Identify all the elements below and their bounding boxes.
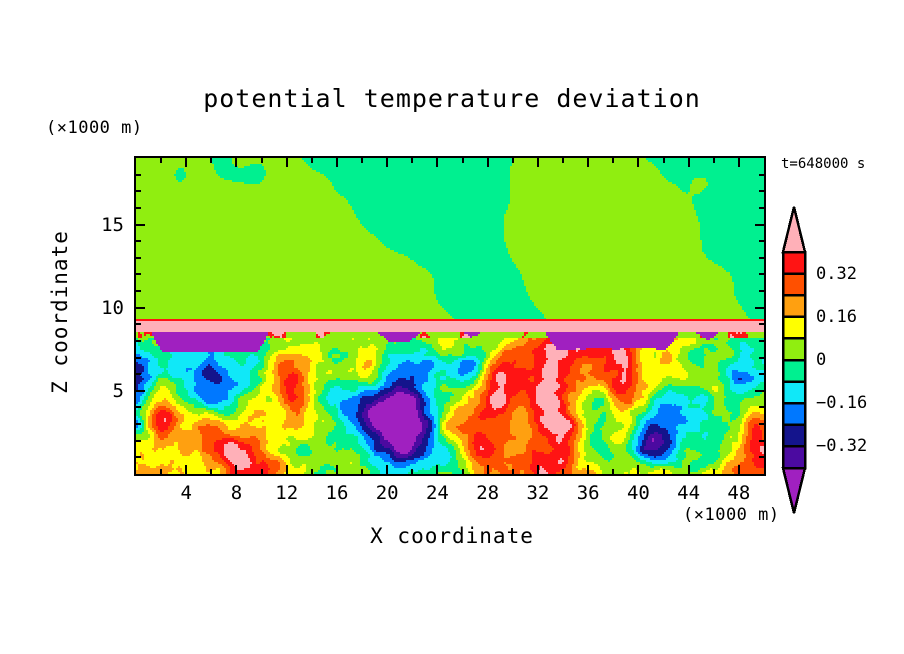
x-tick: [235, 156, 237, 167]
y-axis-units-label: (×1000 m): [46, 118, 143, 138]
x-tick: [261, 469, 263, 476]
x-tick: [336, 465, 338, 476]
x-tick: [612, 469, 614, 476]
x-tick: [562, 469, 564, 476]
x-tick-label: 16: [326, 482, 349, 504]
x-tick: [512, 156, 514, 163]
y-tick: [134, 257, 141, 259]
x-tick: [537, 465, 539, 476]
x-tick-label: 40: [627, 482, 650, 504]
y-tick: [134, 440, 141, 442]
y-tick: [759, 257, 766, 259]
y-tick: [755, 390, 766, 392]
y-tick: [134, 390, 145, 392]
x-tick: [361, 469, 363, 476]
x-tick: [286, 465, 288, 476]
x-tick: [361, 156, 363, 163]
x-axis-units-label: (×1000 m): [683, 505, 780, 525]
y-tick: [134, 190, 141, 192]
x-tick: [336, 156, 338, 167]
y-tick: [134, 323, 141, 325]
x-tick: [411, 469, 413, 476]
colorbar-tick-label: 0.16: [807, 307, 857, 327]
contour-field: [136, 158, 764, 474]
x-tick: [637, 156, 639, 167]
x-tick: [587, 156, 589, 167]
x-tick: [185, 465, 187, 476]
page-title: potential temperature deviation: [0, 84, 904, 113]
x-tick: [210, 469, 212, 476]
x-tick: [462, 469, 464, 476]
colorbar: 0.320.160−0.16−0.32: [781, 205, 807, 515]
x-tick: [487, 156, 489, 167]
x-tick: [436, 465, 438, 476]
y-tick-label: 5: [84, 380, 124, 402]
x-tick: [688, 465, 690, 476]
x-tick: [487, 465, 489, 476]
x-tick: [663, 469, 665, 476]
x-tick: [235, 465, 237, 476]
y-tick: [134, 340, 141, 342]
colorbar-tick-label: 0.32: [807, 264, 857, 284]
x-tick: [311, 156, 313, 163]
y-tick: [134, 423, 141, 425]
x-tick-label: 4: [181, 482, 192, 504]
y-tick: [759, 456, 766, 458]
x-tick: [512, 469, 514, 476]
y-tick: [134, 456, 141, 458]
contour-plot-area: 4812162024283236404448 51015: [134, 156, 766, 476]
x-tick: [562, 156, 564, 163]
y-tick-label: 15: [84, 214, 124, 236]
x-tick: [160, 469, 162, 476]
colorbar-tick-label: 0: [807, 350, 826, 370]
x-tick: [462, 156, 464, 163]
x-tick: [185, 156, 187, 167]
x-tick-label: 8: [231, 482, 242, 504]
x-tick-label: 44: [677, 482, 700, 504]
x-tick: [436, 156, 438, 167]
x-tick: [411, 156, 413, 163]
x-tick: [286, 156, 288, 167]
x-tick: [587, 465, 589, 476]
y-tick: [759, 207, 766, 209]
colorbar-tick-label: −0.16: [807, 393, 867, 413]
y-tick: [755, 307, 766, 309]
x-tick-label: 36: [577, 482, 600, 504]
x-tick: [210, 156, 212, 163]
x-tick: [160, 156, 162, 163]
y-tick: [134, 307, 145, 309]
y-tick: [759, 290, 766, 292]
x-axis-title: X coordinate: [0, 524, 904, 548]
x-tick: [386, 156, 388, 167]
x-tick: [663, 156, 665, 163]
y-tick: [134, 240, 141, 242]
colorbar-tick-label: −0.32: [807, 436, 867, 456]
x-tick: [386, 465, 388, 476]
x-tick-label: 20: [376, 482, 399, 504]
y-tick: [759, 340, 766, 342]
y-tick: [759, 406, 766, 408]
y-tick: [759, 190, 766, 192]
y-tick: [759, 273, 766, 275]
x-tick: [713, 156, 715, 163]
y-tick: [134, 406, 141, 408]
y-tick-label: 10: [84, 297, 124, 319]
y-tick: [755, 224, 766, 226]
x-tick: [261, 156, 263, 163]
y-tick: [134, 224, 145, 226]
x-tick-label: 24: [426, 482, 449, 504]
x-tick: [738, 156, 740, 167]
y-tick: [134, 273, 141, 275]
x-tick: [688, 156, 690, 167]
y-tick: [134, 373, 141, 375]
x-tick: [637, 465, 639, 476]
y-tick: [759, 440, 766, 442]
x-tick-label: 32: [526, 482, 549, 504]
y-tick: [134, 174, 141, 176]
x-tick-label: 48: [727, 482, 750, 504]
y-tick: [134, 207, 141, 209]
y-tick: [759, 323, 766, 325]
y-tick: [134, 290, 141, 292]
y-tick: [759, 240, 766, 242]
x-tick: [738, 465, 740, 476]
y-tick: [759, 423, 766, 425]
x-tick: [612, 156, 614, 163]
y-axis-title: Z coordinate: [48, 227, 72, 397]
y-tick: [759, 357, 766, 359]
x-tick-label: 12: [275, 482, 298, 504]
y-tick: [134, 357, 141, 359]
y-tick: [759, 373, 766, 375]
x-tick: [311, 469, 313, 476]
x-tick-label: 28: [476, 482, 499, 504]
x-tick: [537, 156, 539, 167]
x-tick: [713, 469, 715, 476]
time-annotation: t=648000 s: [781, 156, 865, 172]
y-tick: [759, 174, 766, 176]
